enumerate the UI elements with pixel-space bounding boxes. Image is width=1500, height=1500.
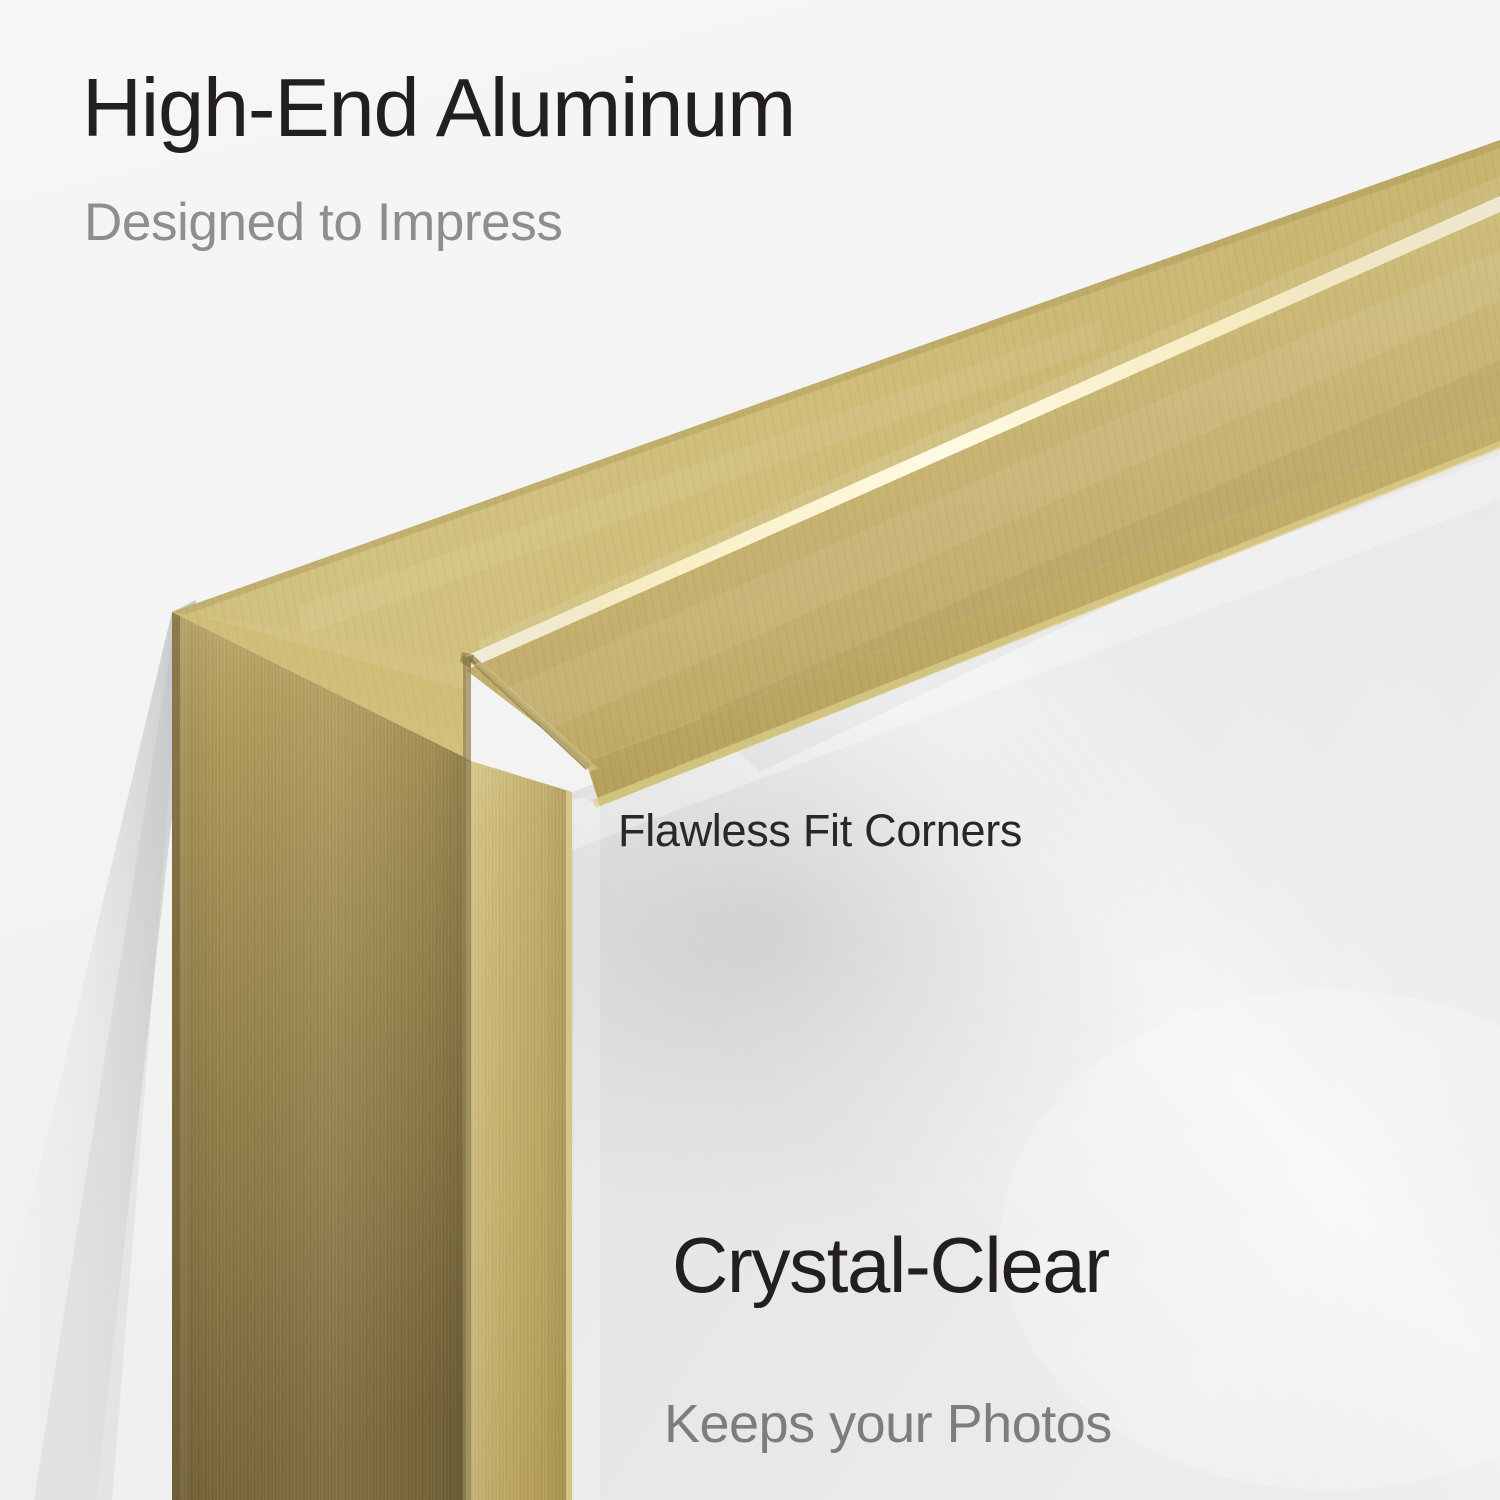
page-subtitle: Designed to Impress	[84, 196, 562, 249]
page-title: High-End Aluminum	[82, 66, 795, 149]
product-marketing-image: High-End Aluminum Designed to Impress Fl…	[0, 0, 1500, 1500]
callout-corner-label: Flawless Fit Corners	[618, 808, 1022, 853]
callout-glass-subtitle-line1: Keeps your Photos	[664, 1389, 1112, 1461]
callout-glass-subtitle: Keeps your Photos Looking Sharp	[664, 1245, 1112, 1500]
